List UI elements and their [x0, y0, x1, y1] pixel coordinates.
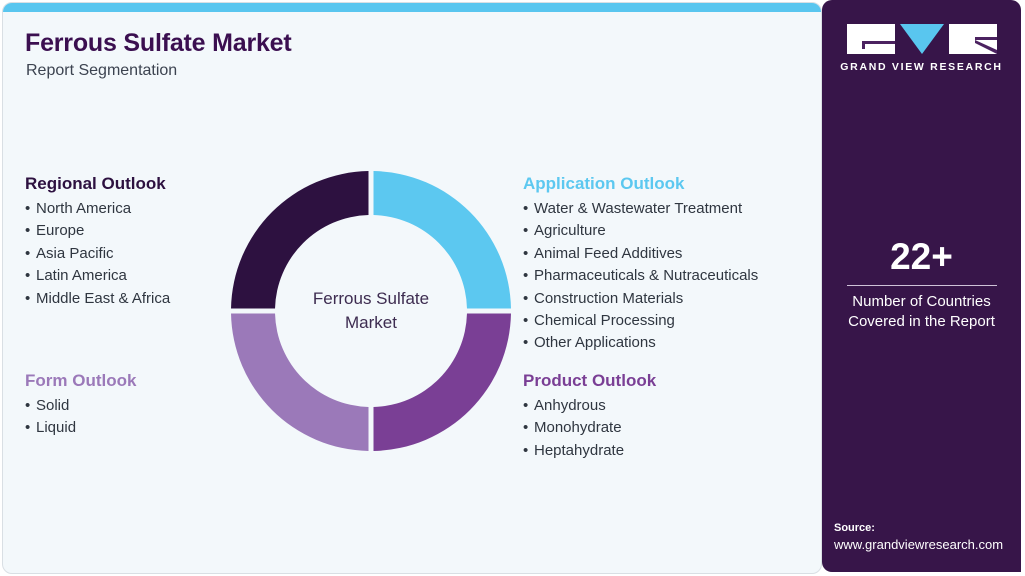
bullet-icon: •: [25, 288, 36, 310]
list-item: •North America: [25, 198, 170, 220]
list-item-label: Heptahydrate: [534, 442, 624, 459]
list-item-label: Asia Pacific: [36, 245, 114, 262]
stat-label-line2: Covered in the Report: [822, 312, 1021, 332]
segment-block-product: Product Outlook •Anhydrous •Monohydrate …: [523, 370, 656, 462]
list-item-label: Monohydrate: [534, 419, 622, 436]
source-block: Source: www.grandviewresearch.com: [834, 520, 1019, 554]
donut-center-label: Ferrous Sulfate Market: [230, 170, 512, 452]
bullet-icon: •: [25, 265, 36, 287]
page-subtitle: Report Segmentation: [26, 62, 177, 80]
donut-center-line2: Market: [345, 311, 397, 335]
stat-divider: [847, 285, 997, 286]
segment-heading-application: Application Outlook: [523, 173, 758, 195]
list-item-label: Chemical Processing: [534, 312, 675, 329]
segment-list-application: •Water & Wastewater Treatment •Agricultu…: [523, 198, 758, 355]
list-item-label: Middle East & Africa: [36, 290, 170, 307]
brand-panel: GRAND VIEW RESEARCH 22+ Number of Countr…: [822, 0, 1021, 572]
list-item-label: Animal Feed Additives: [534, 245, 682, 262]
stat-label-line1: Number of Countries: [822, 292, 1021, 312]
list-item-label: Pharmaceuticals & Nutraceuticals: [534, 267, 758, 284]
segment-heading-product: Product Outlook: [523, 370, 656, 392]
bullet-icon: •: [25, 243, 36, 265]
segment-heading-form: Form Outlook: [25, 370, 136, 392]
list-item: •Other Applications: [523, 332, 758, 354]
list-item: •Agriculture: [523, 220, 758, 242]
bullet-icon: •: [25, 417, 36, 439]
list-item-label: Water & Wastewater Treatment: [534, 200, 742, 217]
list-item: •Water & Wastewater Treatment: [523, 198, 758, 220]
list-item: •Construction Materials: [523, 288, 758, 310]
source-url[interactable]: www.grandviewresearch.com: [834, 536, 1019, 554]
brand-logo: GRAND VIEW RESEARCH: [822, 24, 1021, 73]
list-item: •Chemical Processing: [523, 310, 758, 332]
list-item: •Pharmaceuticals & Nutraceuticals: [523, 265, 758, 287]
source-title: Source:: [834, 520, 1019, 536]
list-item-label: Liquid: [36, 419, 76, 436]
list-item: •Europe: [25, 220, 170, 242]
list-item-label: Europe: [36, 222, 84, 239]
list-item: •Latin America: [25, 265, 170, 287]
list-item-label: Latin America: [36, 267, 127, 284]
donut-chart: Ferrous Sulfate Market: [230, 170, 512, 452]
list-item: •Animal Feed Additives: [523, 243, 758, 265]
bullet-icon: •: [25, 395, 36, 417]
segment-list-regional: •North America •Europe •Asia Pacific •La…: [25, 198, 170, 310]
bullet-icon: •: [523, 332, 534, 354]
gvr-r-mark-icon: [949, 24, 997, 54]
content-card: Ferrous Sulfate Market Report Segmentati…: [2, 2, 822, 574]
segment-block-form: Form Outlook •Solid •Liquid: [25, 370, 136, 440]
donut-center-line1: Ferrous Sulfate: [313, 287, 429, 311]
bullet-icon: •: [523, 395, 534, 417]
logo-marks: [847, 24, 997, 54]
top-accent-bar: [3, 3, 821, 12]
bullet-icon: •: [523, 440, 534, 462]
list-item-label: Agriculture: [534, 222, 606, 239]
list-item: •Middle East & Africa: [25, 288, 170, 310]
bullet-icon: •: [523, 310, 534, 332]
segment-heading-regional: Regional Outlook: [25, 173, 170, 195]
bullet-icon: •: [25, 198, 36, 220]
brand-name: GRAND VIEW RESEARCH: [840, 61, 1002, 73]
bullet-icon: •: [523, 417, 534, 439]
bullet-icon: •: [523, 288, 534, 310]
list-item: •Liquid: [25, 417, 136, 439]
list-item: •Anhydrous: [523, 395, 656, 417]
infographic-canvas: Ferrous Sulfate Market Report Segmentati…: [0, 0, 1025, 576]
list-item-label: North America: [36, 200, 131, 217]
segment-block-application: Application Outlook •Water & Wastewater …: [523, 173, 758, 355]
list-item: •Solid: [25, 395, 136, 417]
stat-number: 22+: [822, 236, 1021, 278]
bullet-icon: •: [523, 198, 534, 220]
bullet-icon: •: [523, 265, 534, 287]
list-item: •Monohydrate: [523, 417, 656, 439]
bullet-icon: •: [25, 220, 36, 242]
stat-block: 22+ Number of Countries Covered in the R…: [822, 236, 1021, 332]
list-item: •Heptahydrate: [523, 440, 656, 462]
list-item-label: Construction Materials: [534, 290, 683, 307]
list-item-label: Other Applications: [534, 334, 656, 351]
list-item-label: Solid: [36, 397, 69, 414]
bullet-icon: •: [523, 243, 534, 265]
list-item: •Asia Pacific: [25, 243, 170, 265]
gvr-g-mark-icon: [847, 24, 895, 54]
bullet-icon: •: [523, 220, 534, 242]
segment-block-regional: Regional Outlook •North America •Europe …: [25, 173, 170, 310]
segment-list-product: •Anhydrous •Monohydrate •Heptahydrate: [523, 395, 656, 462]
gvr-v-triangle-icon: [900, 24, 944, 54]
list-item-label: Anhydrous: [534, 397, 606, 414]
segment-list-form: •Solid •Liquid: [25, 395, 136, 440]
page-title: Ferrous Sulfate Market: [25, 29, 292, 58]
